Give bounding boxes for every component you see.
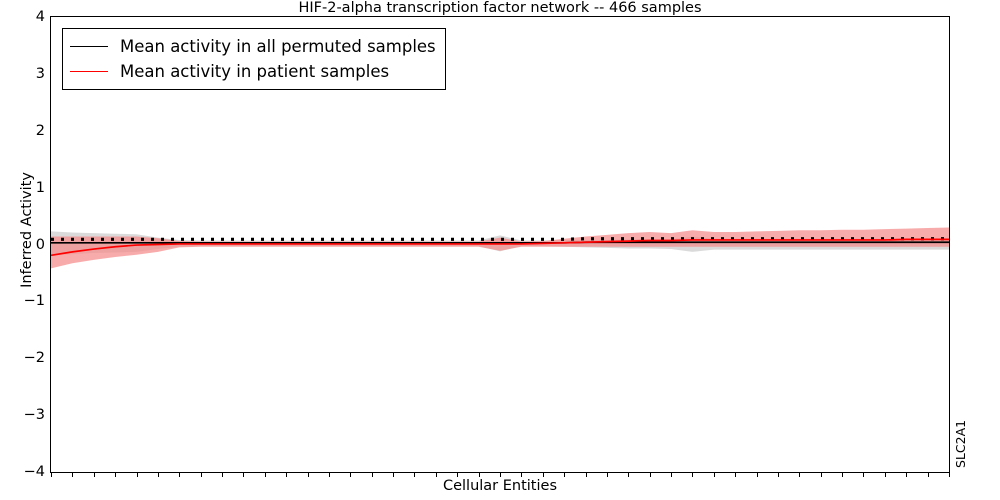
x-axis-tick-mark — [414, 473, 415, 477]
x-axis-tick-mark — [51, 473, 52, 477]
chart-legend: Mean activity in all permuted samplesMea… — [62, 28, 446, 90]
x-axis-tick-mark — [906, 473, 907, 477]
x-axis-tick-mark — [201, 473, 202, 477]
y-axis-tick-label: −3 — [5, 409, 45, 421]
x-axis-tick-mark — [671, 473, 672, 477]
x-axis-tick-mark — [735, 473, 736, 477]
x-axis-tick-mark — [372, 473, 373, 477]
x-axis-tick-mark — [799, 473, 800, 477]
x-axis-tick-label: SLC2A1 — [954, 420, 967, 468]
x-axis-tick-mark — [863, 473, 864, 477]
x-axis-tick-mark — [393, 473, 394, 477]
x-axis-tick-mark — [243, 473, 244, 477]
y-axis-tick-label: 3 — [5, 68, 45, 80]
y-axis-tick-label: 0 — [5, 239, 45, 251]
x-axis-tick-mark — [692, 473, 693, 477]
y-axis-tick-label: 1 — [5, 182, 45, 194]
legend-item-label: Mean activity in all permuted samples — [120, 38, 436, 56]
x-axis-tick-mark — [928, 473, 929, 477]
x-axis-tick-mark — [179, 473, 180, 477]
chart-figure: HIF-2-alpha transcription factor network… — [0, 0, 1000, 500]
legend-item-label: Mean activity in patient samples — [120, 63, 389, 81]
y-axis-tick-label: 4 — [5, 11, 45, 23]
x-axis-tick-mark — [94, 473, 95, 477]
series-line — [51, 242, 949, 243]
y-axis-tick-label: −1 — [5, 295, 45, 307]
x-axis-tick-mark — [500, 473, 501, 477]
x-axis-tick-mark — [329, 473, 330, 477]
legend-item[interactable]: Mean activity in patient samples — [70, 59, 436, 84]
x-axis-tick-mark — [885, 473, 886, 477]
x-axis-tick-mark — [714, 473, 715, 477]
x-axis-tick-mark — [137, 473, 138, 477]
x-axis-tick-mark — [628, 473, 629, 477]
x-axis-tick-mark — [265, 473, 266, 477]
x-axis-tick-mark — [222, 473, 223, 477]
x-axis-tick-mark — [564, 473, 565, 477]
legend-item[interactable]: Mean activity in all permuted samples — [70, 34, 436, 59]
legend-line-swatch — [70, 46, 108, 47]
x-axis-tick-mark — [158, 473, 159, 477]
x-axis-tick-mark — [607, 473, 608, 477]
x-axis-tick-mark — [436, 473, 437, 477]
x-axis-label: Cellular Entities — [50, 478, 950, 494]
y-axis-tick-label: −2 — [5, 352, 45, 364]
x-axis-tick-mark — [586, 473, 587, 477]
x-axis-tick-mark — [115, 473, 116, 477]
y-axis-tick-label: 2 — [5, 125, 45, 137]
legend-line-swatch — [70, 71, 108, 72]
x-axis-tick-mark — [757, 473, 758, 477]
chart-title: HIF-2-alpha transcription factor network… — [50, 0, 950, 16]
x-axis-tick-mark — [350, 473, 351, 477]
x-axis-tick-mark — [842, 473, 843, 477]
x-axis-tick-mark — [543, 473, 544, 477]
x-axis-tick-mark — [778, 473, 779, 477]
x-axis-tick-mark — [949, 473, 950, 477]
x-axis-tick-mark — [286, 473, 287, 477]
y-axis-tick-label: −4 — [5, 466, 45, 478]
x-axis-tick-mark — [650, 473, 651, 477]
x-axis-tick-mark — [72, 473, 73, 477]
x-axis-tick-mark — [308, 473, 309, 477]
x-axis-tick-mark — [821, 473, 822, 477]
x-axis-tick-mark — [457, 473, 458, 477]
x-axis-tick-mark — [521, 473, 522, 477]
x-axis-tick-mark — [479, 473, 480, 477]
